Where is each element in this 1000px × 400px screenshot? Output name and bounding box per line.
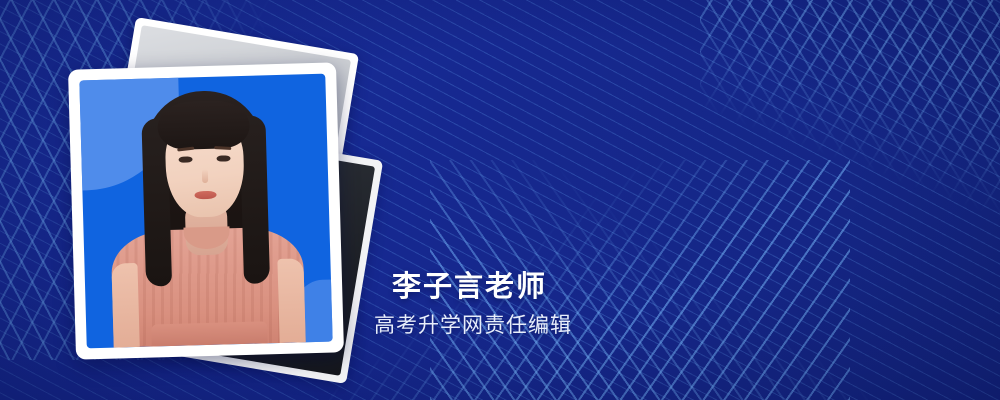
photo-card-stack [62, 30, 362, 350]
portrait-hair-right [239, 115, 270, 284]
portrait-nose [202, 169, 208, 183]
portrait-waist [151, 321, 268, 346]
portrait-arm-left [111, 263, 139, 348]
avatar [79, 74, 332, 349]
portrait-illustration [79, 74, 332, 349]
author-role: 高考升学网责任编辑 [374, 312, 572, 340]
article-hero-banner: 河南高考理科排名在218500的理科 类考生能报考什么大学 李子言老师 高考升学… [0, 0, 1000, 400]
portrait-fringe [157, 100, 250, 151]
photo-card-front [68, 62, 344, 359]
portrait-eye-right [216, 155, 230, 161]
author-block: 李子言老师 高考升学网责任编辑 [392, 268, 572, 340]
portrait-arm-right [277, 258, 305, 343]
portrait-eye-left [178, 156, 192, 162]
author-name: 李子言老师 [392, 268, 572, 306]
